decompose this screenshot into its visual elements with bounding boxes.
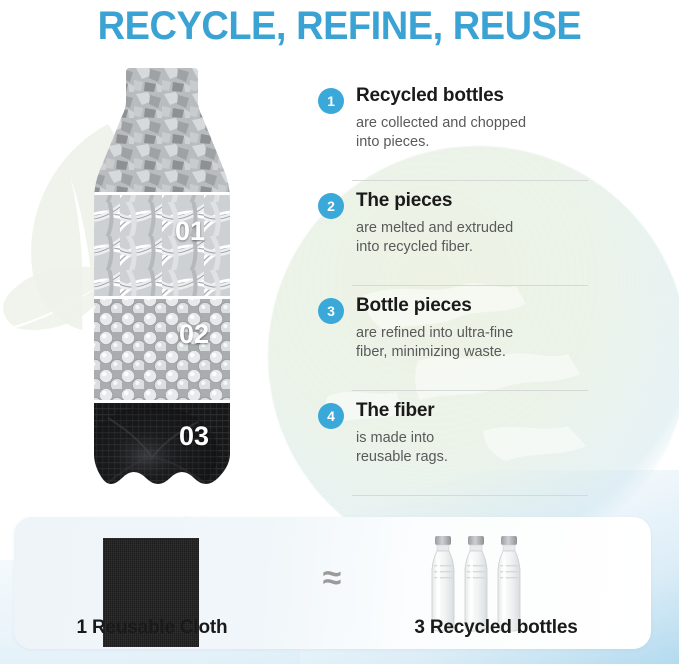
step-title-4: The fiber <box>356 399 618 423</box>
step-title-2: The pieces <box>356 189 618 213</box>
step-item-4: 4 The fiber is made into reusable rags. <box>318 399 618 504</box>
step-item-2: 2 The pieces are melted and extruded int… <box>318 189 618 294</box>
step-divider-4 <box>352 495 588 496</box>
bottle-diagram: 01 02 03 04 <box>78 66 250 508</box>
step-text-3: are refined into ultra-fine fiber, minim… <box>356 324 618 362</box>
step-badge-2: 2 <box>318 193 344 219</box>
steps-list: 1 Recycled bottles are collected and cho… <box>318 84 618 504</box>
step-divider-3 <box>352 390 588 391</box>
bottle-segment-number-01: 01 <box>175 216 205 247</box>
step-item-1: 1 Recycled bottles are collected and cho… <box>318 84 618 189</box>
step-text-1: are collected and chopped into pieces. <box>356 114 618 152</box>
step-body-2: The pieces are melted and extruded into … <box>356 189 618 257</box>
page-title: RECYCLE, REFINE, REUSE <box>17 4 662 49</box>
step-title-1: Recycled bottles <box>356 84 618 108</box>
bottle-segment-number-03: 03 <box>179 421 209 452</box>
step-body-1: Recycled bottles are collected and chopp… <box>356 84 618 152</box>
step-text-2: are melted and extruded into recycled fi… <box>356 219 618 257</box>
infographic-page: RECYCLE, REFINE, REUSE <box>0 0 679 664</box>
bottle-segment-number-02: 02 <box>179 319 209 350</box>
step-divider-2 <box>352 285 588 286</box>
equivalence-panel: ≈ <box>14 517 651 649</box>
bottle-shape <box>78 66 250 508</box>
recycled-bottles-label: 3 Recycled bottles <box>399 617 593 639</box>
approximately-equal-icon: ≈ <box>307 561 357 595</box>
step-badge-1: 1 <box>318 88 344 114</box>
step-body-3: Bottle pieces are refined into ultra-fin… <box>356 294 618 362</box>
reusable-cloth-label: 1 Reusable Cloth <box>54 617 250 639</box>
step-body-4: The fiber is made into reusable rags. <box>356 399 618 467</box>
step-badge-3: 3 <box>318 298 344 324</box>
step-badge-4: 4 <box>318 403 344 429</box>
step-divider-1 <box>352 180 588 181</box>
step-text-4: is made into reusable rags. <box>356 429 618 467</box>
step-title-3: Bottle pieces <box>356 294 618 318</box>
step-item-3: 3 Bottle pieces are refined into ultra-f… <box>318 294 618 399</box>
